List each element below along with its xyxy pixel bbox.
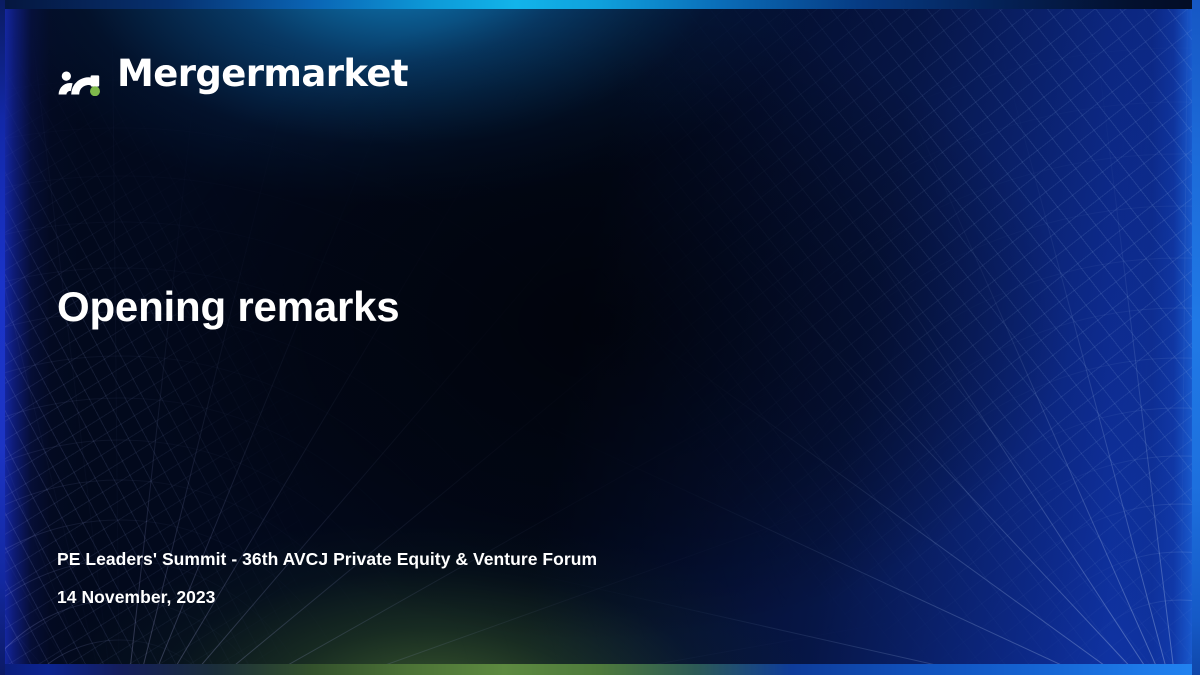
mergermarket-arc-icon xyxy=(57,50,105,96)
slide-footer: PE Leaders' Summit - 36th AVCJ Private E… xyxy=(57,548,597,610)
footer-event-name: PE Leaders' Summit - 36th AVCJ Private E… xyxy=(57,548,597,571)
footer-date: 14 November, 2023 xyxy=(57,586,597,609)
slide-content: Mergermarket Opening remarks PE Leaders'… xyxy=(0,0,1200,675)
logo-green-dot xyxy=(90,86,100,96)
mergermarket-wordmark: Mergermarket xyxy=(117,55,408,92)
slide-title: Opening remarks xyxy=(57,283,399,330)
presentation-slide: Mergermarket Opening remarks PE Leaders'… xyxy=(0,0,1200,675)
mergermarket-logo: Mergermarket xyxy=(57,50,408,96)
